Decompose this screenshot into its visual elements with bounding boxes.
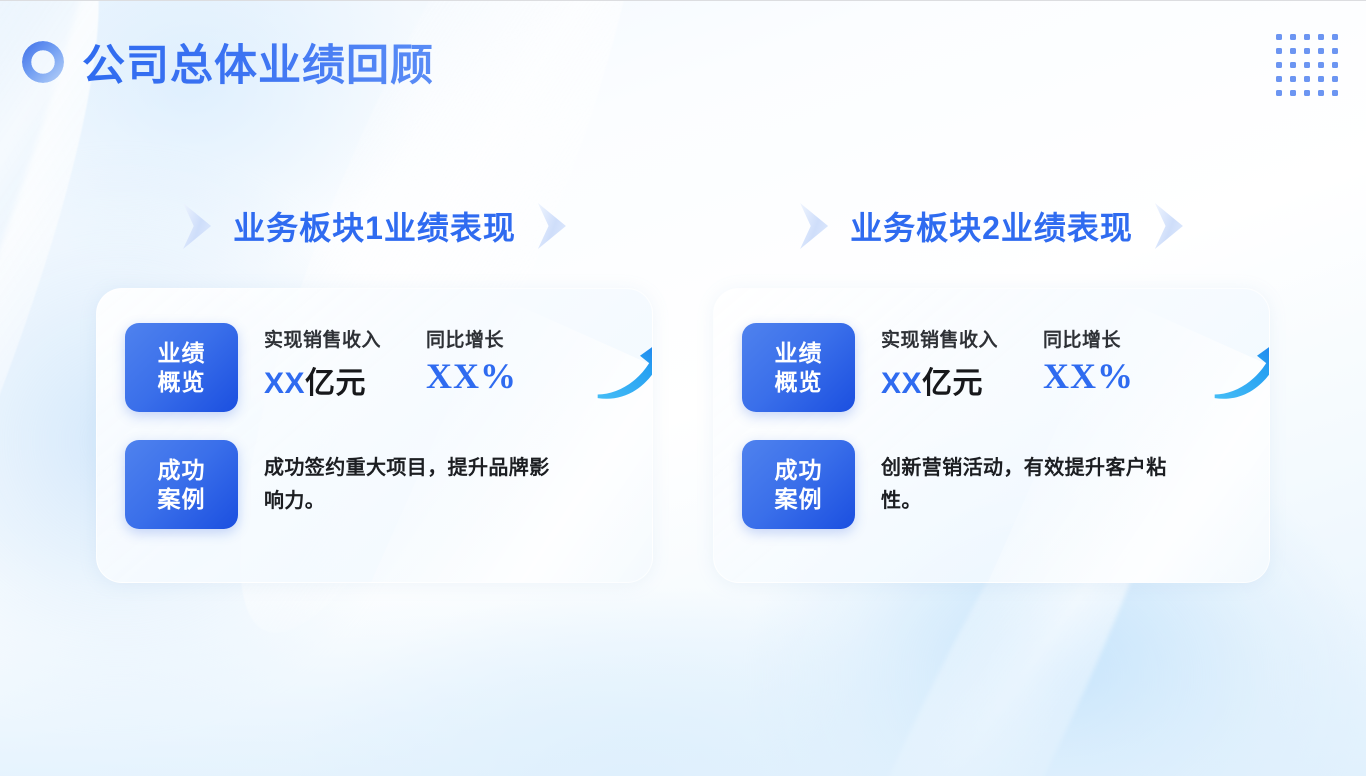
stat-growth-2: 同比增长 XX%: [1043, 325, 1183, 394]
stat-revenue-value-1: XX亿元: [264, 358, 404, 402]
overview-stats-1: 实现销售收入 XX亿元 同比增长 XX%: [264, 325, 653, 411]
case-text-2: 创新营销活动，有效提升客户粘性。: [881, 452, 1181, 517]
chevron-right-icon: [1155, 203, 1183, 249]
case-badge-2[interactable]: 成功 案例: [742, 440, 855, 529]
trend-up-arrow-icon: [1209, 319, 1270, 411]
slide: 公司总体业绩回顾 业务板块1业绩表现 业绩 概览: [0, 0, 1366, 776]
case-badge-line1: 成功: [775, 456, 823, 484]
stat-growth-label-1: 同比增长: [426, 325, 566, 352]
overview-row-1: 业绩 概览 实现销售收入 XX亿元 同比增长 XX%: [97, 289, 652, 412]
section-header-1: 业务板块1业绩表现: [96, 191, 653, 261]
slide-header: 公司总体业绩回顾: [22, 31, 434, 93]
dot-grid-icon: [1276, 34, 1338, 96]
section-title-2: 业务板块2业绩表现: [850, 203, 1133, 249]
stat-revenue-1: 实现销售收入 XX亿元: [264, 325, 404, 402]
case-badge-line2: 案例: [775, 485, 823, 513]
ring-icon: [22, 41, 64, 83]
overview-stats-2: 实现销售收入 XX亿元 同比增长 XX%: [881, 325, 1270, 411]
overview-badge-line2: 概览: [775, 368, 823, 396]
stat-growth-label-2: 同比增长: [1043, 325, 1183, 352]
chevron-right-icon: [183, 203, 211, 249]
section-title-1: 业务板块1业绩表现: [233, 203, 516, 249]
stat-growth-value-2: XX%: [1043, 358, 1183, 394]
case-badge-line2: 案例: [158, 485, 206, 513]
stat-revenue-unit-1: 亿元: [305, 367, 366, 400]
section-header-2: 业务板块2业绩表现: [713, 191, 1270, 261]
segment-card-2: 业绩 概览 实现销售收入 XX亿元 同比增长 XX%: [713, 288, 1270, 583]
overview-badge-1[interactable]: 业绩 概览: [125, 323, 238, 412]
case-text-1: 成功签约重大项目，提升品牌影响力。: [264, 452, 564, 517]
stat-revenue-unit-2: 亿元: [922, 367, 983, 400]
segment-card-1: 业绩 概览 实现销售收入 XX亿元 同比增长 XX%: [96, 288, 653, 583]
case-badge-line1: 成功: [158, 456, 206, 484]
overview-badge-2[interactable]: 业绩 概览: [742, 323, 855, 412]
case-row-2: 成功 案例 创新营销活动，有效提升客户粘性。: [714, 412, 1269, 529]
business-segment-column-1: 业务板块1业绩表现 业绩 概览 实现销售收入 XX亿元: [96, 191, 653, 583]
case-badge-1[interactable]: 成功 案例: [125, 440, 238, 529]
stat-growth-1: 同比增长 XX%: [426, 325, 566, 394]
chevron-right-icon: [538, 203, 566, 249]
content-columns: 业务板块1业绩表现 业绩 概览 实现销售收入 XX亿元: [0, 191, 1366, 583]
business-segment-column-2: 业务板块2业绩表现 业绩 概览 实现销售收入 XX亿元: [713, 191, 1270, 583]
case-row-1: 成功 案例 成功签约重大项目，提升品牌影响力。: [97, 412, 652, 529]
chevron-right-icon: [800, 203, 828, 249]
page-title: 公司总体业绩回顾: [82, 31, 434, 93]
stat-revenue-value-2: XX亿元: [881, 358, 1021, 402]
overview-badge-line1: 业绩: [775, 339, 823, 367]
overview-badge-line2: 概览: [158, 368, 206, 396]
stat-revenue-label-1: 实现销售收入: [264, 325, 404, 352]
stat-revenue-label-2: 实现销售收入: [881, 325, 1021, 352]
stat-revenue-2: 实现销售收入 XX亿元: [881, 325, 1021, 402]
stat-growth-value-1: XX%: [426, 358, 566, 394]
stat-revenue-number-2: XX: [881, 367, 922, 400]
stat-revenue-number-1: XX: [264, 367, 305, 400]
overview-row-2: 业绩 概览 实现销售收入 XX亿元 同比增长 XX%: [714, 289, 1269, 412]
trend-up-arrow-icon: [592, 319, 653, 411]
overview-badge-line1: 业绩: [158, 339, 206, 367]
background-bottom-fade: [0, 586, 1366, 776]
